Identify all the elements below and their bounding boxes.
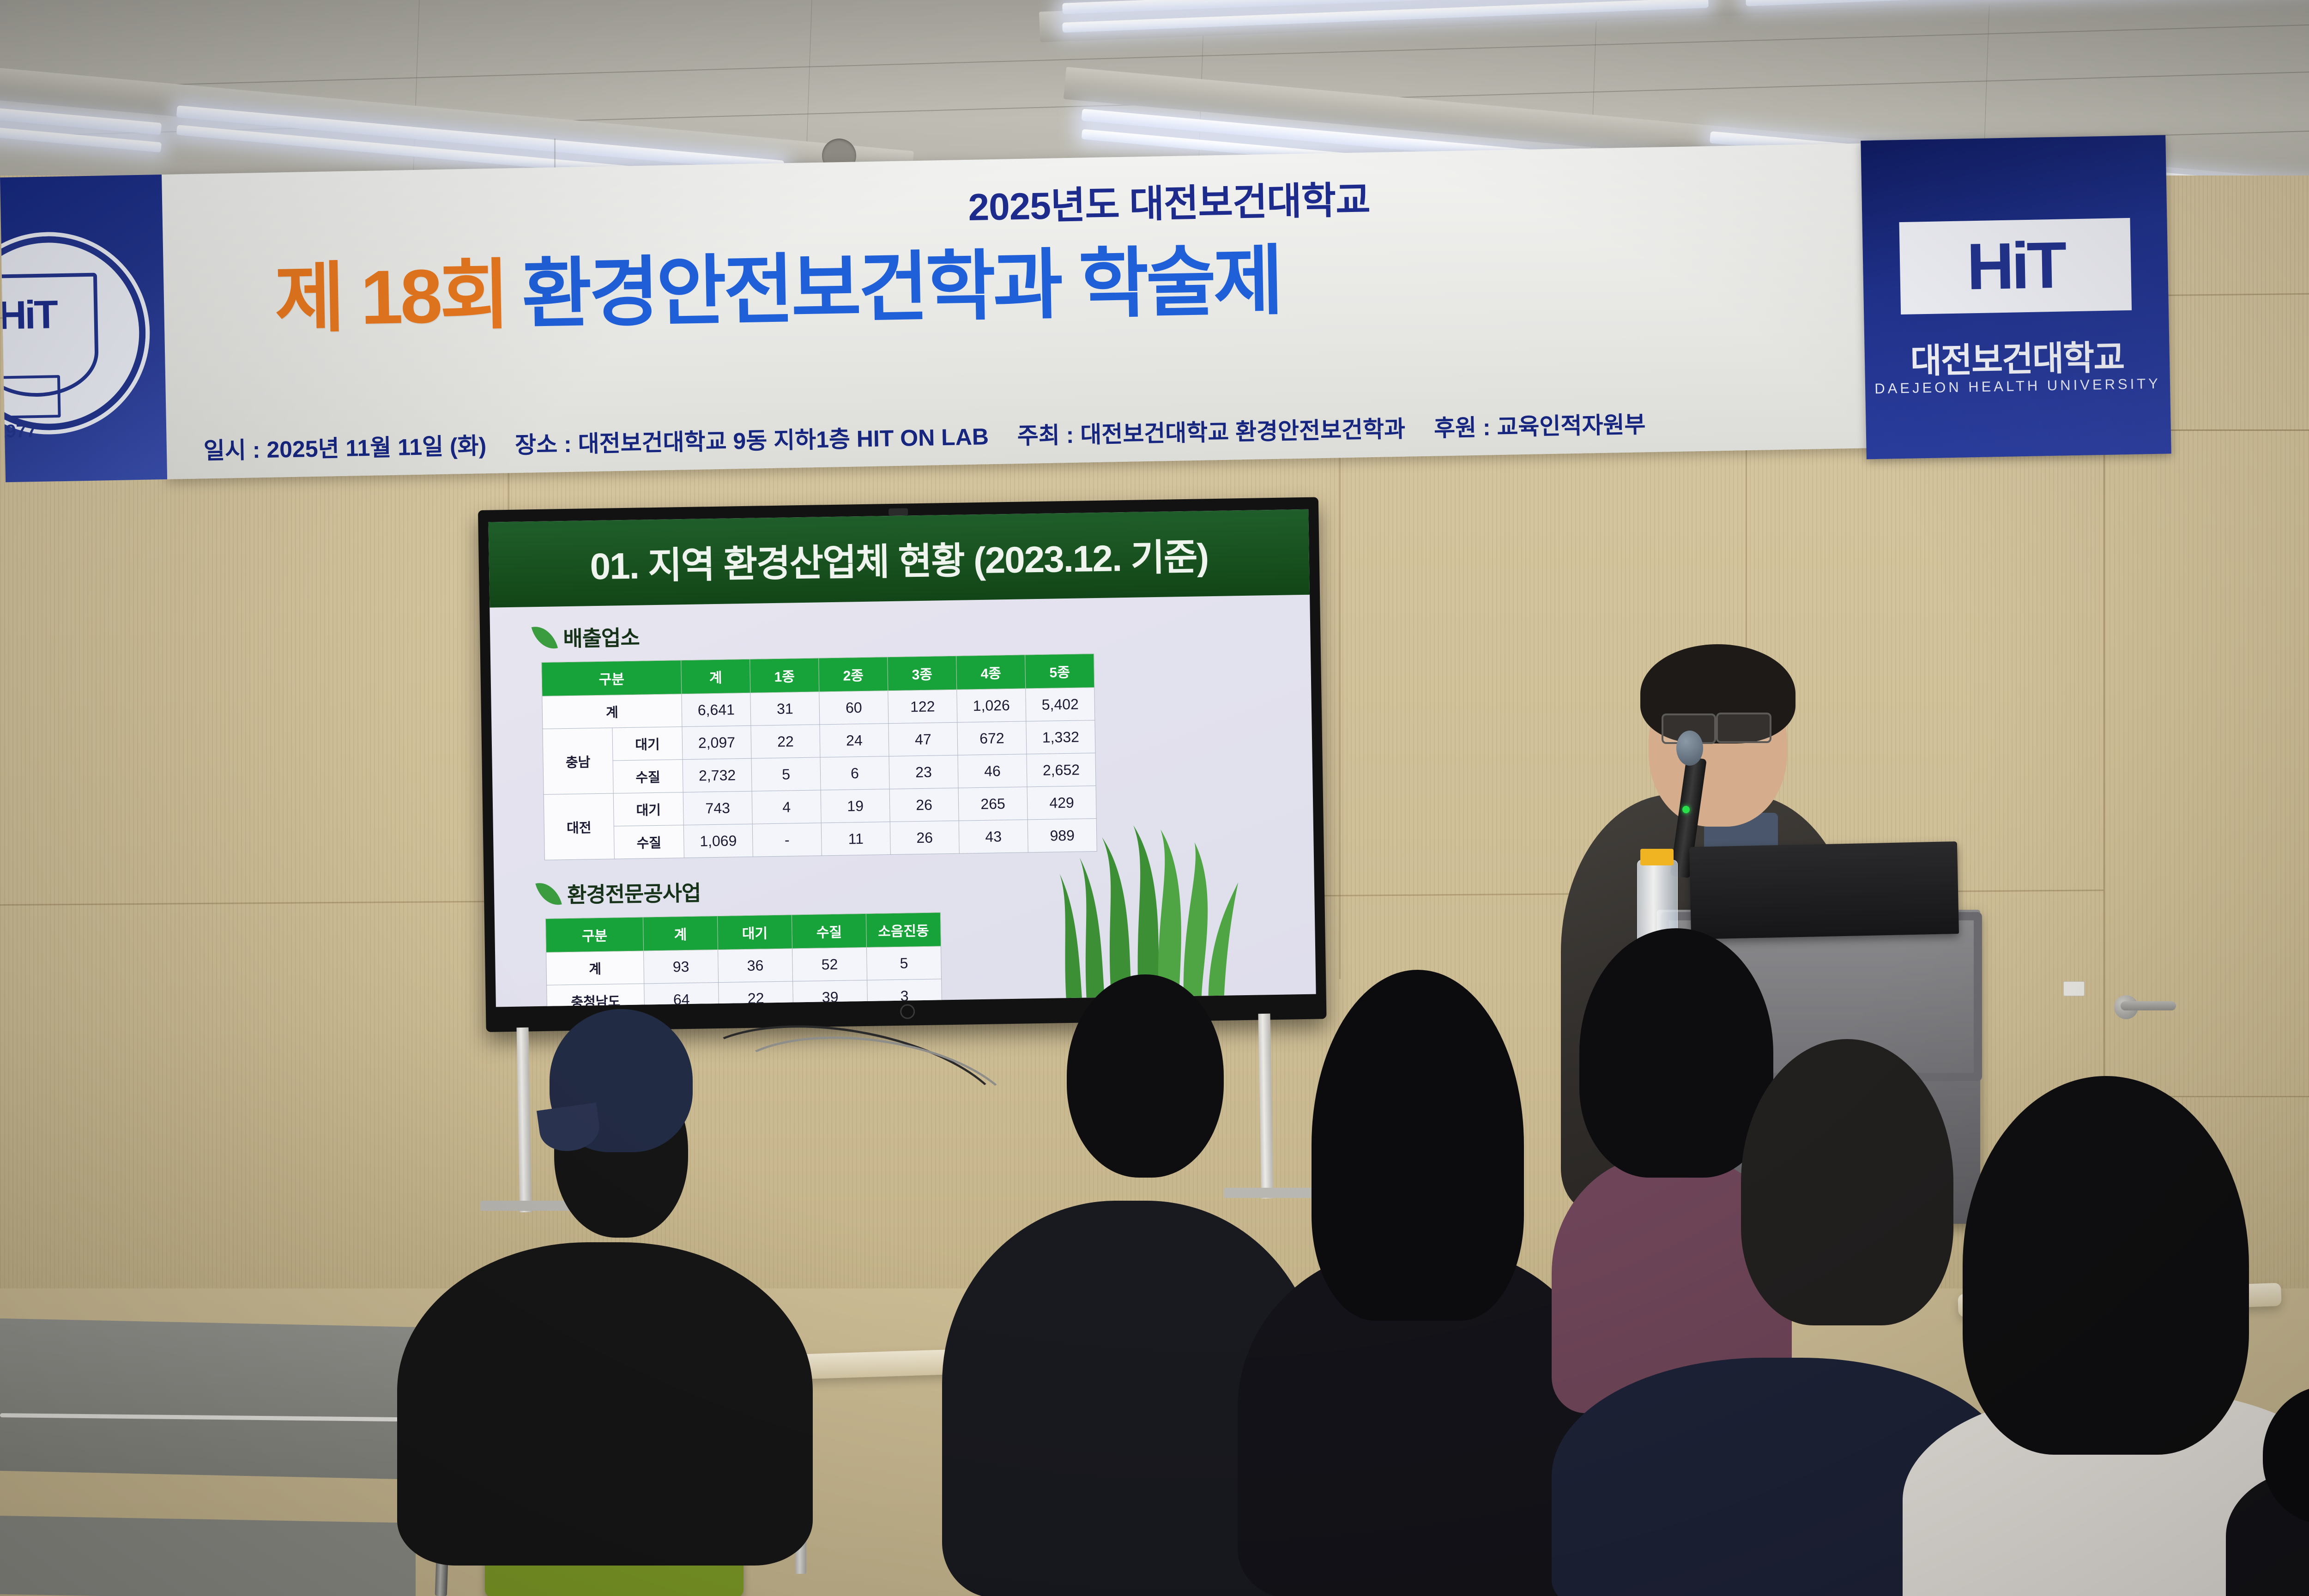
section-label: 환경전문공사업 [567, 877, 701, 909]
laptop[interactable] [1689, 841, 1959, 939]
glasses-icon [1716, 713, 1771, 743]
banner-footer-date: 일시 : 2025년 11월 11일 (화) [203, 427, 487, 465]
table-row: 계 93 36 52 5 [546, 946, 942, 985]
slide-title: 01. 지역 환경산업체 현황 (2023.12. 기준) [590, 527, 1209, 590]
col-total: 계 [681, 659, 750, 694]
lecture-hall-photo: HEALTH UNIVERSITY HiT 1977 2025년도 대전보건대학… [0, 0, 2309, 1596]
presentation-display: 01. 지역 환경산업체 현황 (2023.12. 기준) 배출업소 구분 계 … [478, 497, 1327, 1032]
table-header-row: 구분 계 대기 수질 소음진동 [545, 913, 941, 952]
door[interactable] [2103, 429, 2309, 1097]
audience-head [1312, 970, 1524, 1321]
display-power-indicator [900, 1004, 915, 1019]
microphone-head-icon [1676, 731, 1703, 766]
banner-edition: 제 18회 [274, 233, 508, 347]
wall-outlet-icon [2063, 981, 2085, 996]
hit-logo-mark: HiT [1899, 218, 2132, 314]
audience-head [1579, 928, 1773, 1178]
hit-logo-plate: HiT [1899, 218, 2132, 314]
audience-body [397, 1242, 813, 1566]
audience-head [1741, 1039, 1953, 1325]
col-noise: 소음진동 [866, 913, 941, 948]
door-handle[interactable] [2121, 1001, 2176, 1010]
slide: 01. 지역 환경산업체 현황 (2023.12. 기준) 배출업소 구분 계 … [488, 509, 1316, 1007]
banner-footer-venue: 장소 : 대전보건대학교 9동 지하1층 HIT ON LAB [514, 418, 989, 460]
university-seal-panel: HEALTH UNIVERSITY HiT 1977 [0, 175, 167, 482]
leaf-icon [535, 878, 562, 909]
col-type4: 4종 [956, 655, 1026, 689]
col-total: 계 [643, 916, 718, 951]
slide-header: 01. 지역 환경산업체 현황 (2023.12. 기준) [488, 509, 1310, 608]
event-banner: HEALTH UNIVERSITY HiT 1977 2025년도 대전보건대학… [162, 139, 2097, 479]
grass-graphic-icon [1027, 792, 1261, 999]
audience-head [1067, 974, 1224, 1178]
microphone-led-indicator [1682, 806, 1690, 813]
seal-hit-mark: HiT [0, 292, 57, 339]
display-stand-foot [1224, 1188, 1321, 1198]
audience-head [1963, 1076, 2249, 1455]
col-gubun: 구분 [545, 917, 643, 952]
bottle-cap [1640, 849, 1674, 865]
slide-section-emitters: 배출업소 [534, 611, 1311, 653]
col-type1: 1종 [750, 658, 819, 693]
col-air: 대기 [717, 915, 792, 950]
leaf-icon [532, 622, 558, 653]
banner-footer-host: 주최 : 대전보건대학교 환경안전보건학과 [1017, 411, 1406, 451]
display-stand-foot [480, 1201, 577, 1211]
display-camera-icon [889, 508, 908, 516]
table-contractors: 구분 계 대기 수질 소음진동 계 93 36 52 5 [545, 912, 943, 1007]
col-water: 수질 [792, 913, 866, 949]
table-emitters: 구분 계 1종 2종 3종 4종 5종 계 6,641 31 60 [541, 653, 1097, 860]
col-type5: 5종 [1025, 654, 1094, 689]
col-type3: 3종 [888, 656, 957, 690]
seal-year: 1977 [0, 421, 36, 442]
col-gubun: 구분 [542, 660, 682, 696]
seal-book-icon [0, 375, 61, 419]
banner-footer-sponsor: 후원 : 교육인적자원부 [1433, 406, 1646, 443]
col-type2: 2종 [819, 657, 888, 692]
section-label: 배출업소 [563, 621, 640, 653]
floor-carpet [0, 1516, 416, 1596]
banner-title: 환경안전보건학과 학술제 [520, 219, 1281, 343]
hit-logo: HiT 대전보건대학교 DAEJEON HEALTH UNIVERSITY [1861, 135, 2171, 459]
